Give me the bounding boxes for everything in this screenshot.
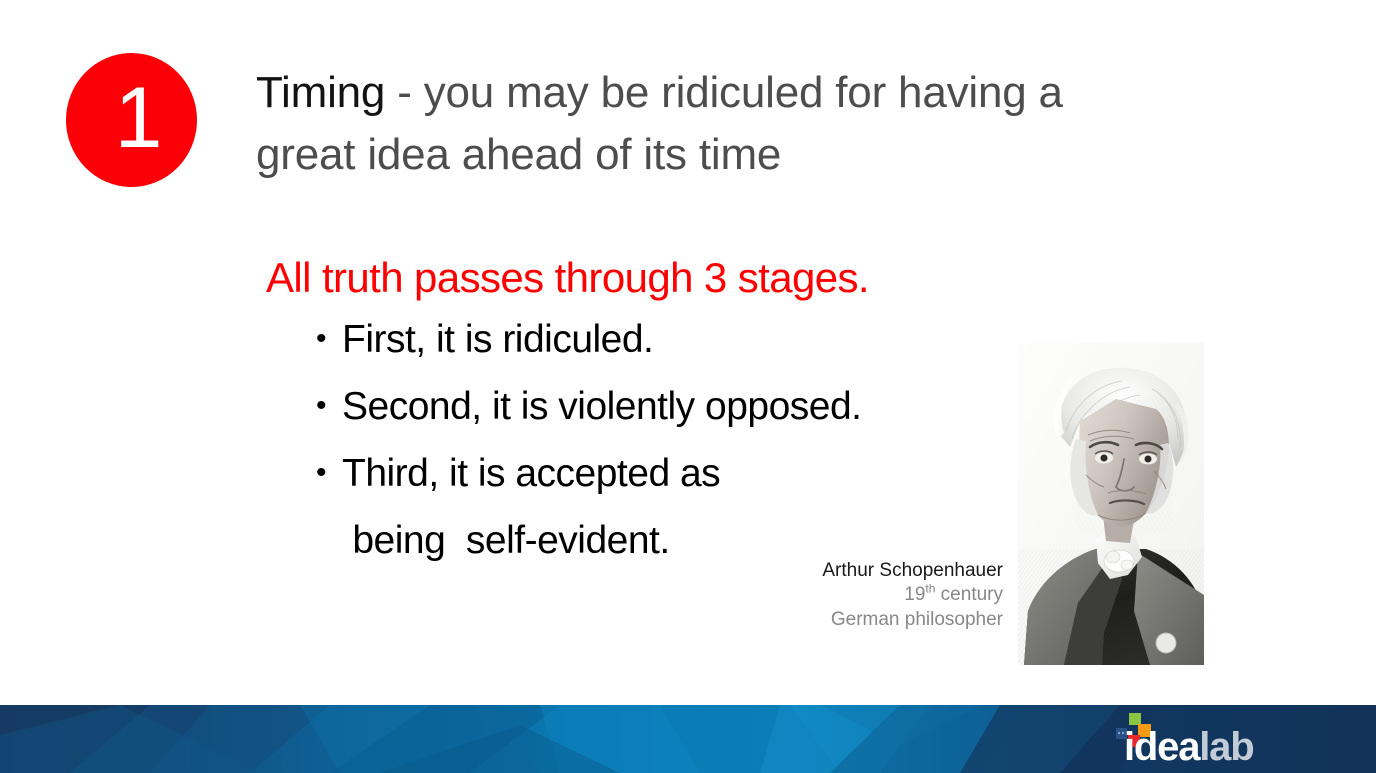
bullet-dot-icon: • [316,320,342,358]
list-item-label: Third, it is accepted as [342,454,720,493]
list-item: • First, it is ridiculed. [316,320,1016,359]
list-item: • Second, it is violently opposed. [316,387,1016,426]
body-headline: All truth passes through 3 stages. [266,256,869,300]
list-item: • Third, it is accepted as being self-ev… [316,454,1016,560]
logo-word-idea: idea [1124,725,1199,769]
footer-band: idealab [0,705,1376,773]
list-item-label: First, it is ridiculed. [342,320,653,359]
attribution-role: German philosopher [700,608,1003,632]
list-item-first-line: • Third, it is accepted as [316,454,1016,493]
step-number-badge: 1 [66,53,197,187]
bullet-list: • First, it is ridiculed. • Second, it i… [316,320,1016,560]
step-number-label: 1 [101,75,163,165]
attribution-era-word: century [935,584,1003,605]
list-item-label: Second, it is violently opposed. [342,387,862,426]
slide-title: Timing - you may be ridiculed for having… [256,62,1136,187]
attribution-era-number: 19 [904,584,925,605]
attribution-era: 19th century [700,583,1003,607]
portrait-image [1018,343,1204,665]
logo-word-lab: lab [1199,725,1253,769]
logo-wordmark: idealab [1124,727,1253,767]
slide-canvas: 1 Timing - you may be ridiculed for havi… [0,0,1376,773]
slide-title-lead: Timing [256,68,385,117]
logo-dot [1118,732,1120,734]
attribution-era-suffix: th [925,582,935,596]
idealab-logo: idealab [1110,711,1290,767]
list-item-continuation: being self-evident. [316,521,1016,560]
bullet-dot-icon: • [316,454,342,492]
bullet-dot-icon: • [316,387,342,425]
attribution-block: Arthur Schopenhauer 19th century German … [700,559,1003,632]
attribution-name: Arthur Schopenhauer [700,559,1003,583]
